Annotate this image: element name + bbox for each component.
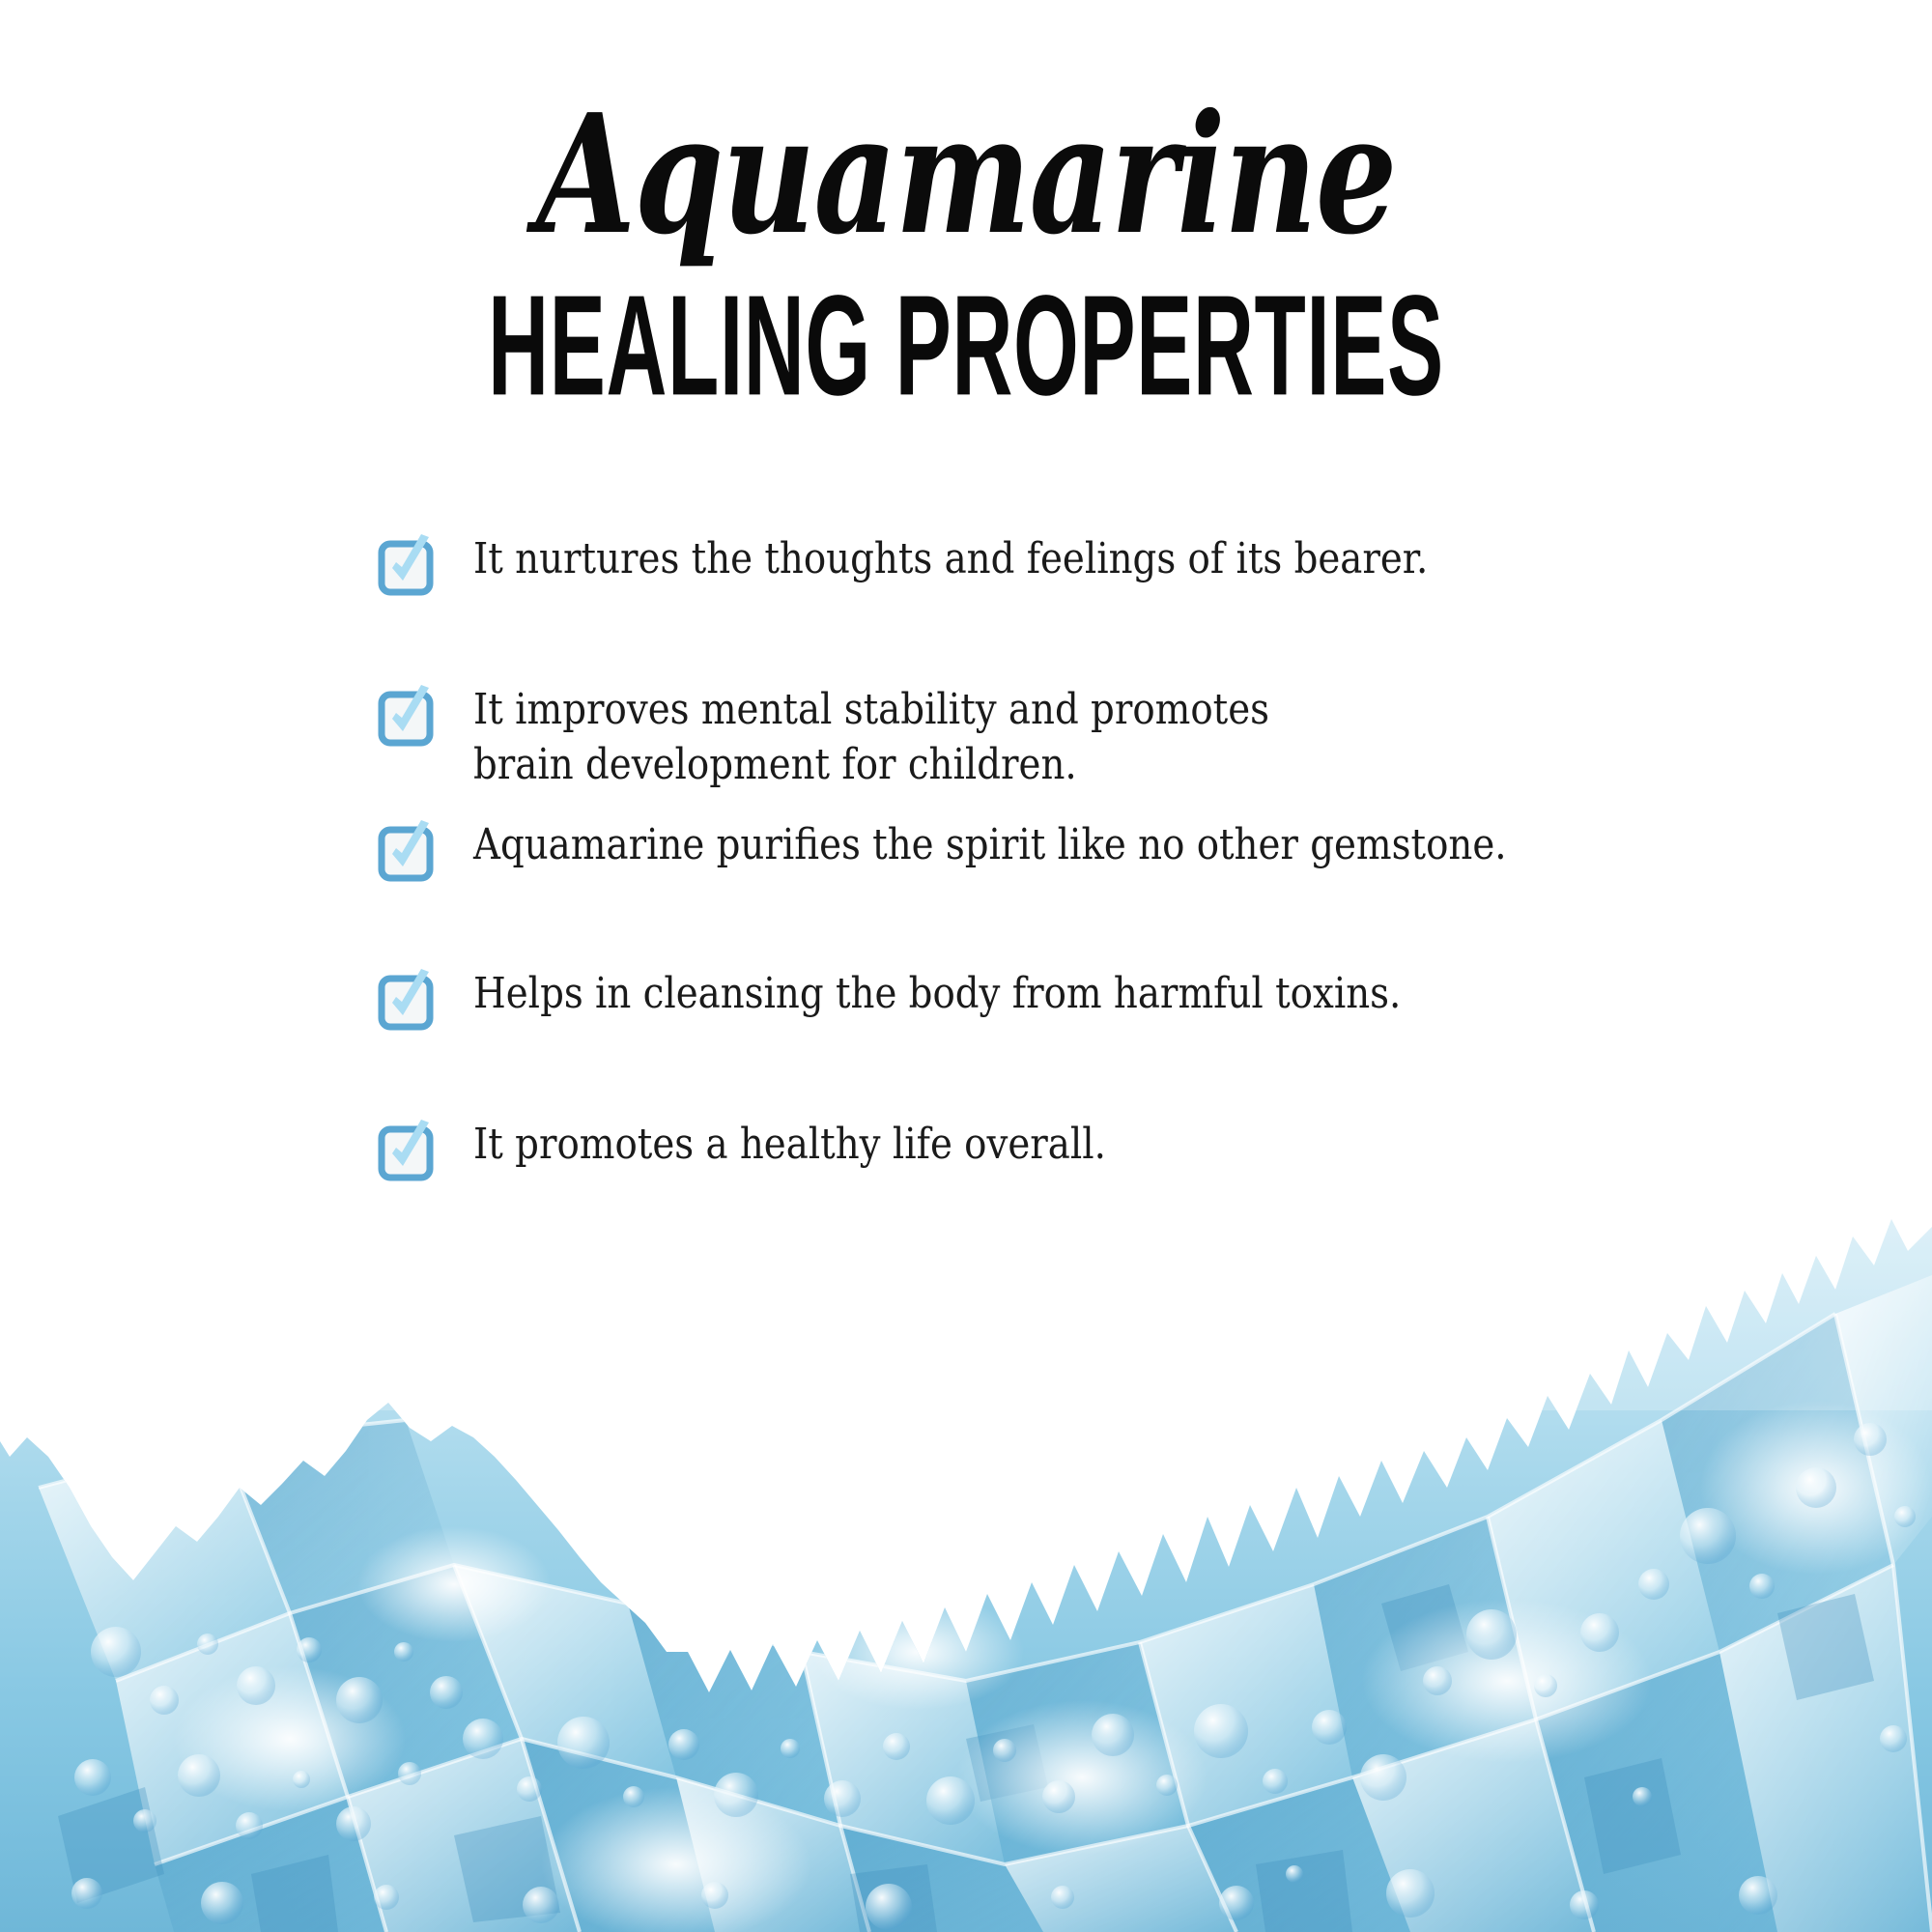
poster-canvas: Aquamarine HEALING PROPERTIES It nurture… — [0, 0, 1932, 1932]
checked-checkbox-icon — [379, 970, 435, 1030]
list-item-label: It improves mental stability and promote… — [473, 680, 1269, 792]
list-item-label: It promotes a healthy life overall. — [473, 1115, 1106, 1172]
list-item: It promotes a healthy life overall. — [379, 1115, 1828, 1180]
checked-checkbox-icon — [379, 1121, 435, 1180]
checked-checkbox-icon — [379, 535, 435, 595]
list-item-label: Helps in cleansing the body from harmful… — [473, 964, 1401, 1021]
list-item: It nurtures the thoughts and feelings of… — [379, 529, 1828, 595]
poster-header: Aquamarine HEALING PROPERTIES — [0, 0, 1932, 402]
healing-properties-list: It nurtures the thoughts and feelings of… — [379, 529, 1828, 1180]
checked-checkbox-icon — [379, 686, 435, 746]
checked-checkbox-icon — [379, 821, 435, 881]
ice-cubes-photo — [0, 1198, 1932, 1932]
list-item: It improves mental stability and promote… — [379, 680, 1828, 792]
list-item-label: Aquamarine purifies the spirit like no o… — [473, 815, 1507, 872]
list-item: Aquamarine purifies the spirit like no o… — [379, 815, 1828, 881]
list-item-label: It nurtures the thoughts and feelings of… — [473, 529, 1428, 586]
ice-cubes-illustration — [0, 1198, 1932, 1932]
page-subtitle: HEALING PROPERTIES — [328, 274, 1604, 417]
page-title: Aquamarine — [213, 93, 1719, 257]
list-item: Helps in cleansing the body from harmful… — [379, 964, 1828, 1030]
